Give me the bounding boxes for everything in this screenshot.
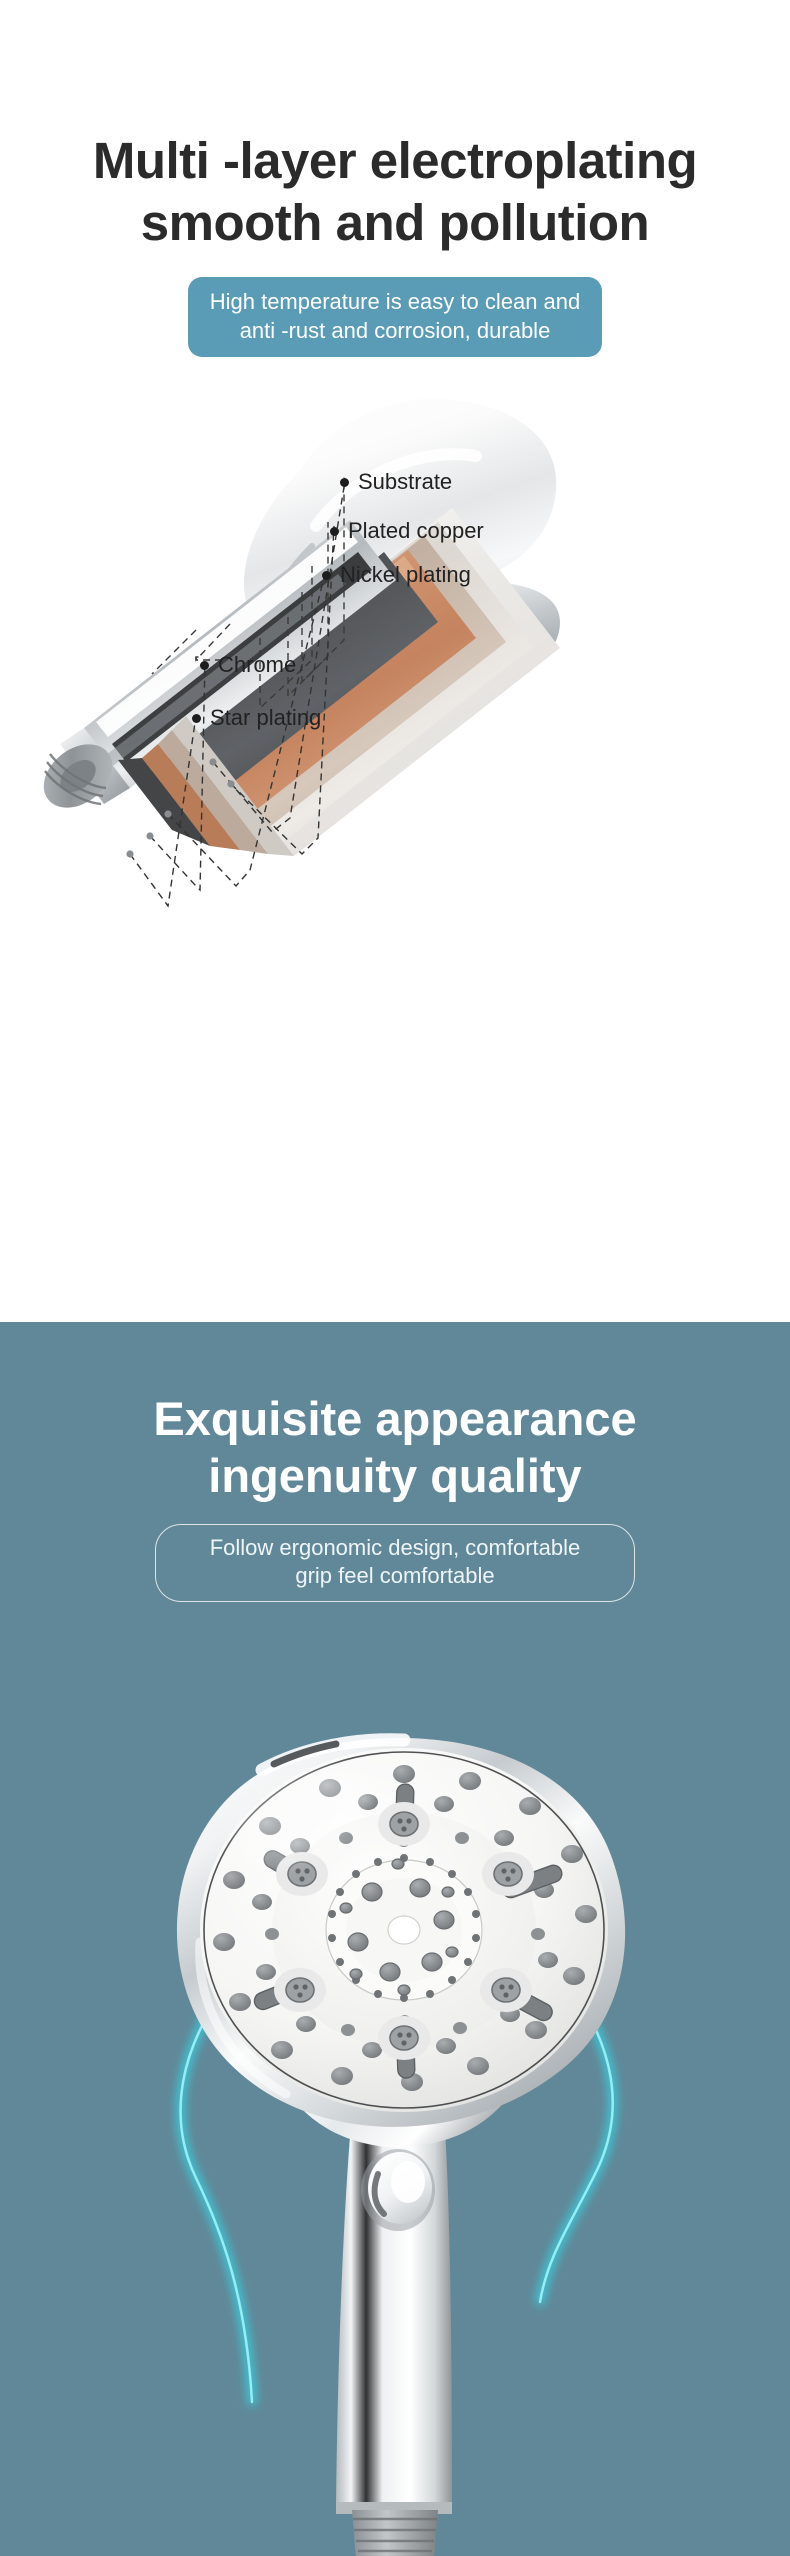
section1-badge-line1: High temperature is easy to clean and [202,287,588,316]
shower-head-product-image [0,1642,790,2556]
section-exquisite-appearance: Exquisite appearance ingenuity quality F… [0,1322,790,2556]
callout-plated-copper: Plated copper [330,519,484,542]
callout-substrate: Substrate [340,470,452,493]
callout-dot-star-plating [192,714,201,723]
callout-nickel-plating: Nickel plating [322,563,471,586]
section1-title: Multi -layer electroplating smooth and p… [0,130,790,254]
product-detail-page: Multi -layer electroplating smooth and p… [0,0,790,2556]
section1-title-line1: Multi -layer electroplating [0,130,790,192]
section2-badge-line2: grip feel comfortable [172,1562,618,1590]
callout-dot-plated-copper [330,527,339,536]
section-multilayer-electroplating: Multi -layer electroplating smooth and p… [0,0,790,1322]
section2-title-line1: Exquisite appearance [0,1390,790,1447]
handle-threaded-end [352,2510,438,2556]
section2-title-line2: ingenuity quality [0,1447,790,1504]
layer-cutaway-illustration [0,330,790,1130]
section1-title-line2: smooth and pollution [0,192,790,254]
callout-dot-nickel-plating [322,571,331,580]
callout-dot-chrome [200,661,209,670]
section2-badge: Follow ergonomic design, comfortable gri… [155,1524,635,1602]
section2-badge-line1: Follow ergonomic design, comfortable [172,1534,618,1562]
mode-selector-button[interactable] [361,2149,435,2231]
callout-chrome: Chrome [200,653,296,676]
callout-star-plating: Star plating [192,706,321,729]
callout-dot-substrate [340,478,349,487]
section2-title: Exquisite appearance ingenuity quality [0,1390,790,1504]
